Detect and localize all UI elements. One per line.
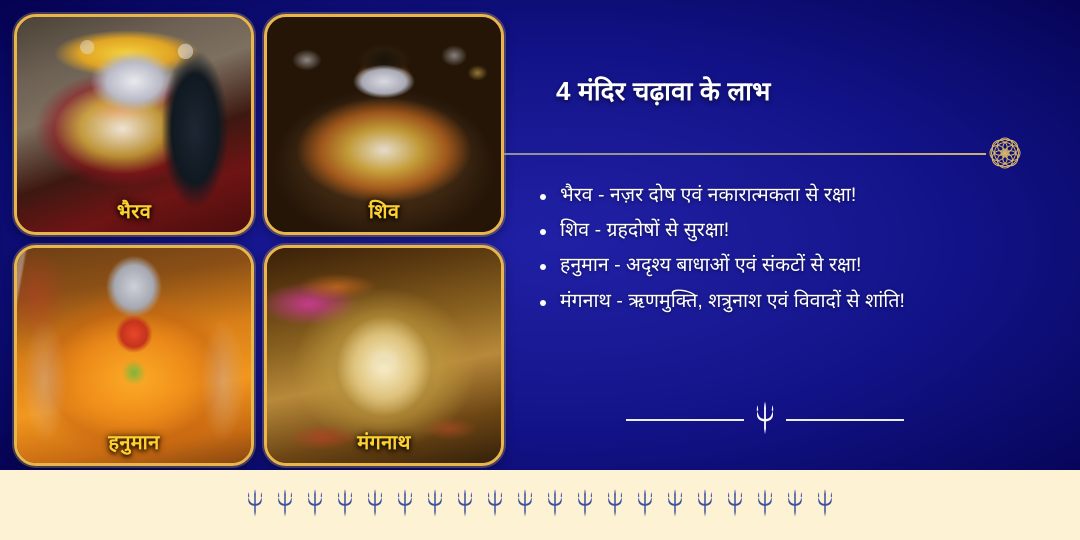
trishul-icon bbox=[454, 488, 476, 523]
bullet-dot-icon bbox=[540, 194, 546, 200]
benefit-text: भैरव - नज़र दोष एवं नकारात्मकता से रक्षा… bbox=[560, 180, 856, 210]
list-item: भैरव - नज़र दोष एवं नकारात्मकता से रक्षा… bbox=[540, 180, 1060, 210]
deity-card-label: शिव bbox=[267, 197, 501, 224]
deity-card-mangnath[interactable]: मंगनाथ bbox=[264, 245, 504, 466]
benefit-text: मंगनाथ - ऋणमुक्ति, शत्रुनाश एवं विवादों … bbox=[560, 286, 905, 316]
trishul-icon bbox=[304, 488, 326, 523]
mandala-rosette-icon bbox=[982, 130, 1028, 181]
deity-card-label: भैरव bbox=[17, 197, 251, 224]
trishul-icon bbox=[514, 488, 536, 523]
trishul-icon bbox=[604, 488, 626, 523]
trishul-icon bbox=[484, 488, 506, 523]
benefits-list: भैरव - नज़र दोष एवं नकारात्मकता से रक्षा… bbox=[540, 180, 1060, 321]
divider-line-right bbox=[786, 419, 904, 421]
page-title: 4 मंदिर चढ़ावा के लाभ bbox=[556, 72, 771, 108]
divider-line-left bbox=[626, 419, 744, 421]
trishul-icon bbox=[694, 488, 716, 523]
deity-image-grid: भैरव शिव हनुमान मंगनाथ bbox=[14, 14, 504, 466]
trishul-icon bbox=[784, 488, 806, 523]
bullet-dot-icon bbox=[540, 264, 546, 270]
trishul-icon bbox=[664, 488, 686, 523]
benefit-text: हनुमान - अदृश्य बाधाओं एवं संकटों से रक्… bbox=[560, 250, 861, 280]
trishul-icon bbox=[574, 488, 596, 523]
trishul-icon bbox=[634, 488, 656, 523]
poster-root: भैरव शिव हनुमान मंगनाथ 4 मंदिर चढ़ावा के… bbox=[0, 0, 1080, 540]
trishul-icon bbox=[544, 488, 566, 523]
trishul-icon bbox=[364, 488, 386, 523]
list-item: हनुमान - अदृश्य बाधाओं एवं संकटों से रक्… bbox=[540, 250, 1060, 280]
trishul-icon bbox=[752, 401, 778, 440]
trishul-icon bbox=[724, 488, 746, 523]
deity-card-bhairav[interactable]: भैरव bbox=[14, 14, 254, 235]
benefit-text: शिव - ग्रहदोषों से सुरक्षा! bbox=[560, 215, 729, 245]
bullet-dot-icon bbox=[540, 229, 546, 235]
deity-card-label: हनुमान bbox=[17, 428, 251, 455]
list-item: शिव - ग्रहदोषों से सुरक्षा! bbox=[540, 215, 1060, 245]
bullet-dot-icon bbox=[540, 300, 546, 306]
rule-line bbox=[504, 153, 986, 155]
deity-card-hanuman[interactable]: हनुमान bbox=[14, 245, 254, 466]
trishul-icon bbox=[274, 488, 296, 523]
trishul-icon bbox=[334, 488, 356, 523]
trishul-icon bbox=[754, 488, 776, 523]
trishul-icon bbox=[424, 488, 446, 523]
trishul-icon bbox=[814, 488, 836, 523]
deity-card-shiv[interactable]: शिव bbox=[264, 14, 504, 235]
trishul-icon bbox=[244, 488, 266, 523]
bottom-trishul-band bbox=[0, 470, 1080, 540]
deity-card-label: मंगनाथ bbox=[267, 428, 501, 455]
list-item: मंगनाथ - ऋणमुक्ति, शत्रुनाश एवं विवादों … bbox=[540, 286, 1060, 316]
trishul-icon bbox=[394, 488, 416, 523]
trishul-row bbox=[244, 488, 836, 523]
trishul-divider bbox=[610, 400, 920, 440]
